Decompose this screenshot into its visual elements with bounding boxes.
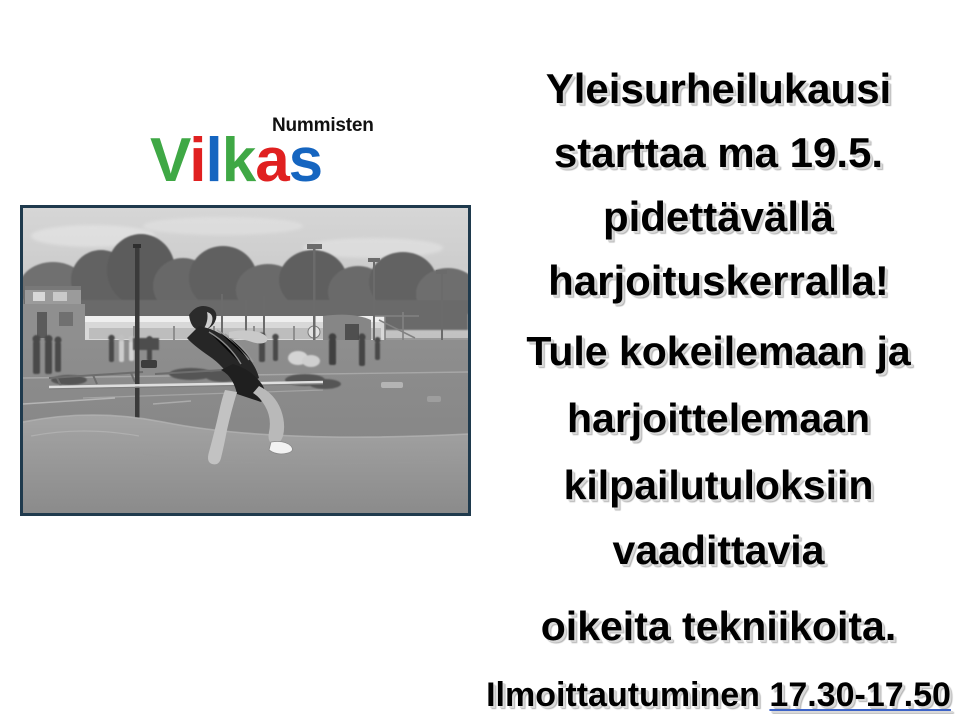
announcement-text-block: Yleisurheilukausi starttaa ma 19.5. pide… (470, 28, 967, 701)
logo-letter-s: s (289, 126, 322, 195)
announcement-line-1: Yleisurheilukausi (470, 68, 967, 110)
announcement-line-9: oikeita tekniikoita. (470, 606, 967, 647)
announcement-line-4: harjoituskerralla! (470, 260, 967, 302)
high-jump-photo-image (23, 208, 468, 513)
announcement-line-7: kilpailutuloksiin (470, 465, 967, 506)
logo-letter-k: k (222, 126, 255, 195)
announcement-line-2: starttaa ma 19.5. (470, 132, 967, 174)
logo-wordmark: Vilkas (150, 130, 322, 192)
signup-label: Ilmoittautuminen (486, 676, 760, 714)
signup-time: 17.30-17.50 (769, 676, 951, 714)
logo-letter-a: a (255, 126, 288, 195)
club-logo: Nummisten Vilkas (150, 112, 390, 194)
high-jump-photo (20, 205, 471, 516)
logo-letter-i: i (189, 126, 205, 195)
announcement-line-6: harjoittelemaan (470, 398, 967, 439)
announcement-line-8: vaadittavia (470, 530, 967, 571)
logo-letter-v: V (150, 126, 189, 195)
slide-canvas: Nummisten Vilkas (0, 0, 967, 701)
announcement-line-3: pidettävällä (470, 196, 967, 238)
logo-letter-l: l (205, 126, 221, 195)
signup-line: Ilmoittautuminen 17.30-17.50 (470, 678, 967, 712)
announcement-line-5: Tule kokeilemaan ja (470, 331, 967, 372)
